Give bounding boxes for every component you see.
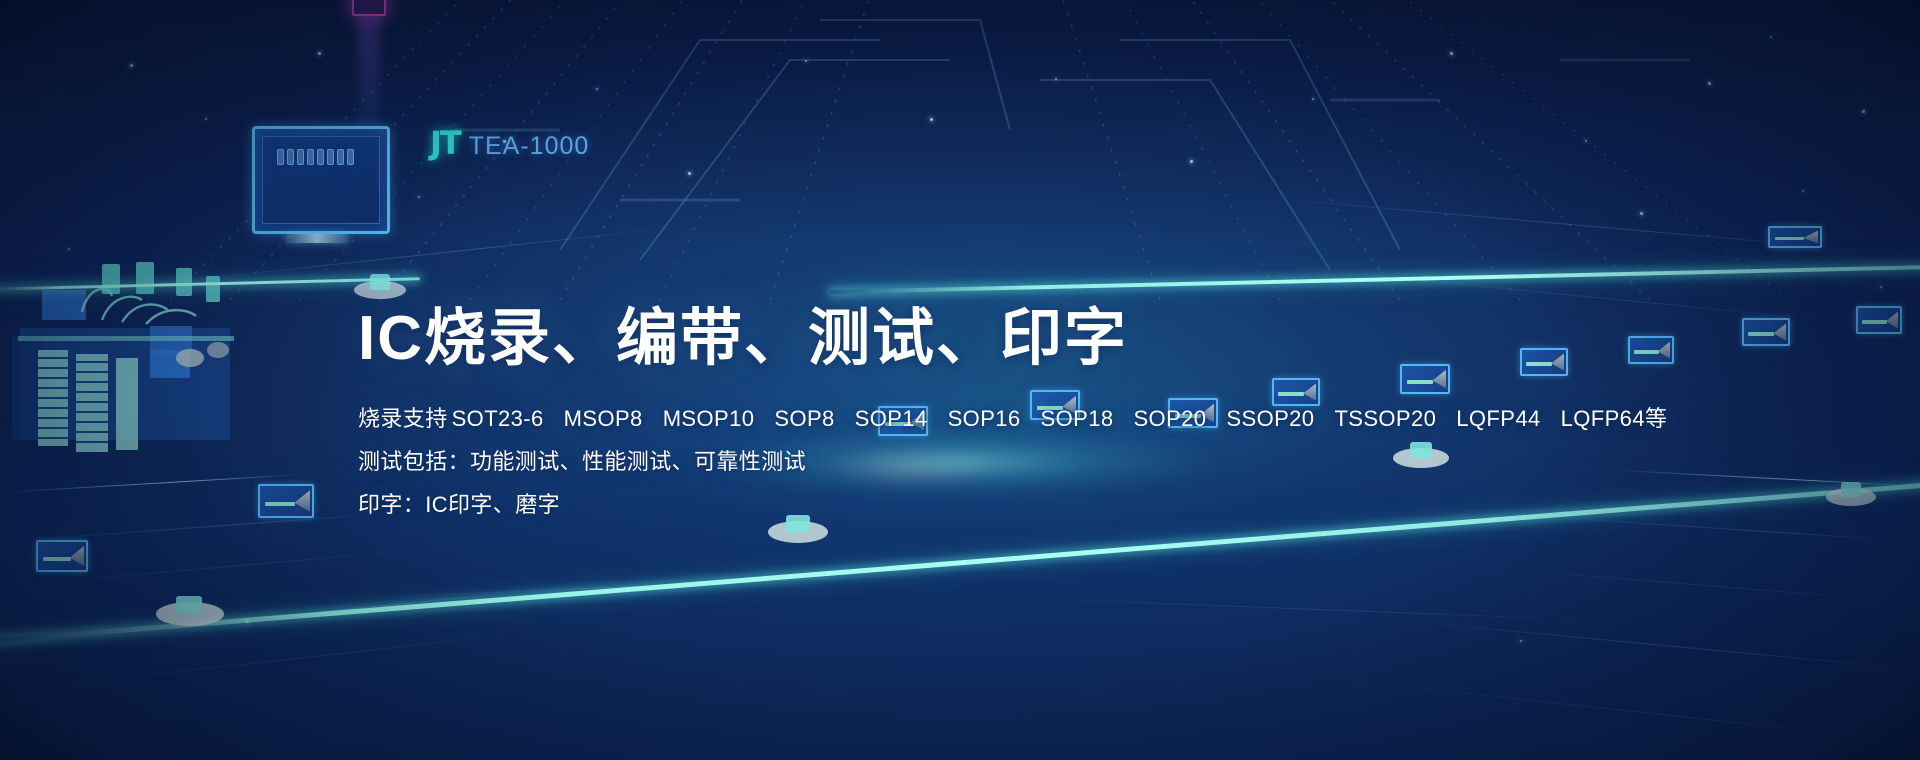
control-monitor xyxy=(252,126,390,234)
subline-marking-scope: 印字：IC印字、磨字 xyxy=(358,494,1658,516)
package-sop8: SOP8 xyxy=(774,408,834,430)
monitor-screen xyxy=(262,136,380,224)
package-sot23-6: SOT23-6 xyxy=(452,408,544,430)
rail-carrier-far-right xyxy=(1820,478,1882,512)
tray-icon xyxy=(1742,318,1790,346)
tray-icon xyxy=(258,484,314,518)
chip-row-graphic xyxy=(277,149,354,165)
package-sop18: SOP18 xyxy=(1041,408,1114,430)
package-lqfp64: LQFP64等 xyxy=(1561,408,1668,430)
package-tssop20: TSSOP20 xyxy=(1334,408,1436,430)
service-detail-list: 烧录支持 SOT23-6 MSOP8 MSOP10 SOP8 SOP14 SOP… xyxy=(358,408,1658,516)
tray-icon xyxy=(36,540,88,572)
conveyor-rail-mid-right xyxy=(830,265,1920,294)
monitor-stand xyxy=(286,234,348,243)
rail-carrier-left xyxy=(150,592,228,636)
tray-icon xyxy=(1856,306,1902,334)
ceiling-fixture-icon xyxy=(352,0,386,16)
tray-icon xyxy=(1768,226,1822,248)
rail-carrier-center xyxy=(762,510,834,550)
banner-copy: IC烧录、编带、测试、印字 烧录支持 SOT23-6 MSOP8 MSOP10 … xyxy=(358,306,1658,516)
package-sop16: SOP16 xyxy=(948,408,1021,430)
package-support-row: 烧录支持 SOT23-6 MSOP8 MSOP10 SOP8 SOP14 SOP… xyxy=(358,408,1667,430)
package-msop10: MSOP10 xyxy=(663,408,755,430)
package-sop20: SOP20 xyxy=(1133,408,1206,430)
package-lqfp44: LQFP44 xyxy=(1456,408,1540,430)
subline-test-scope: 测试包括：功能测试、性能测试、可靠性测试 xyxy=(358,451,1658,473)
brand-model-label: TEA-1000 xyxy=(469,132,590,161)
package-sop14: SOP14 xyxy=(855,408,928,430)
burn-support-lead: 烧录支持 xyxy=(358,408,448,430)
package-ssop20: SSOP20 xyxy=(1226,408,1314,430)
brand-mark-jt: JT xyxy=(430,124,460,162)
rail-carrier-far-left xyxy=(348,270,412,304)
subline-burn-support: 烧录支持 SOT23-6 MSOP8 MSOP10 SOP8 SOP14 SOP… xyxy=(358,408,1658,430)
package-msop8: MSOP8 xyxy=(564,408,643,430)
equipment-brand-plate: JT TEA-1000 xyxy=(430,124,589,162)
ic-service-banner: JT TEA-1000 IC烧录、编带、测试、印字 xyxy=(0,0,1920,760)
page-title: IC烧录、编带、测试、印字 xyxy=(358,306,1658,372)
